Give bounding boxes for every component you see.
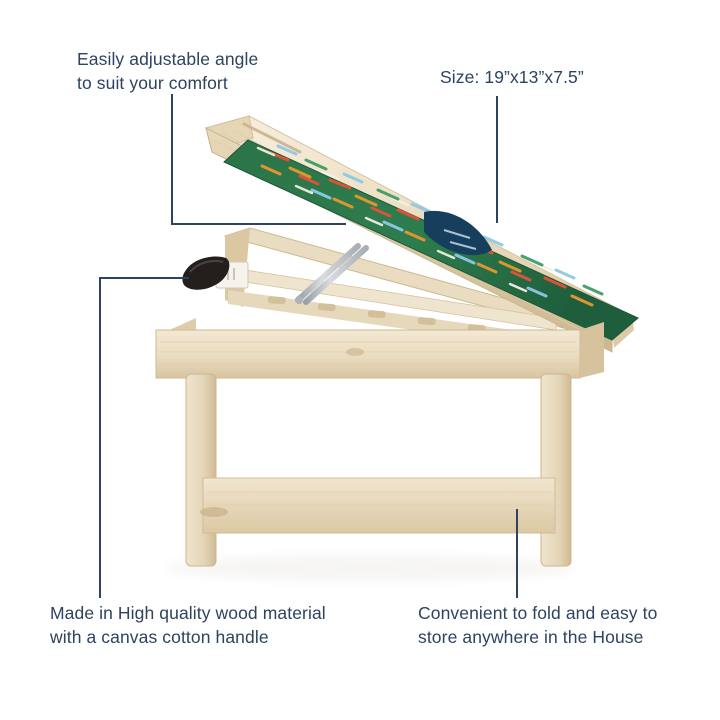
desk-base	[156, 318, 604, 566]
callout-size: Size: 19”x13”x7.5”	[440, 66, 584, 90]
apron-right-return	[580, 322, 604, 378]
contact-shadow	[165, 555, 575, 581]
apron-knot	[346, 348, 364, 356]
infographic-canvas: Easily adjustable angle to suit your com…	[0, 0, 720, 720]
callout-convenient-fold: Convenient to fold and easy to store any…	[418, 602, 657, 649]
left-leg	[186, 374, 216, 566]
right-leg	[541, 374, 571, 566]
callout-adjustable-angle: Easily adjustable angle to suit your com…	[77, 48, 258, 95]
front-apron	[156, 330, 580, 378]
stretcher-knot	[200, 507, 228, 517]
callout-wood-material: Made in High quality wood material with …	[50, 602, 326, 649]
